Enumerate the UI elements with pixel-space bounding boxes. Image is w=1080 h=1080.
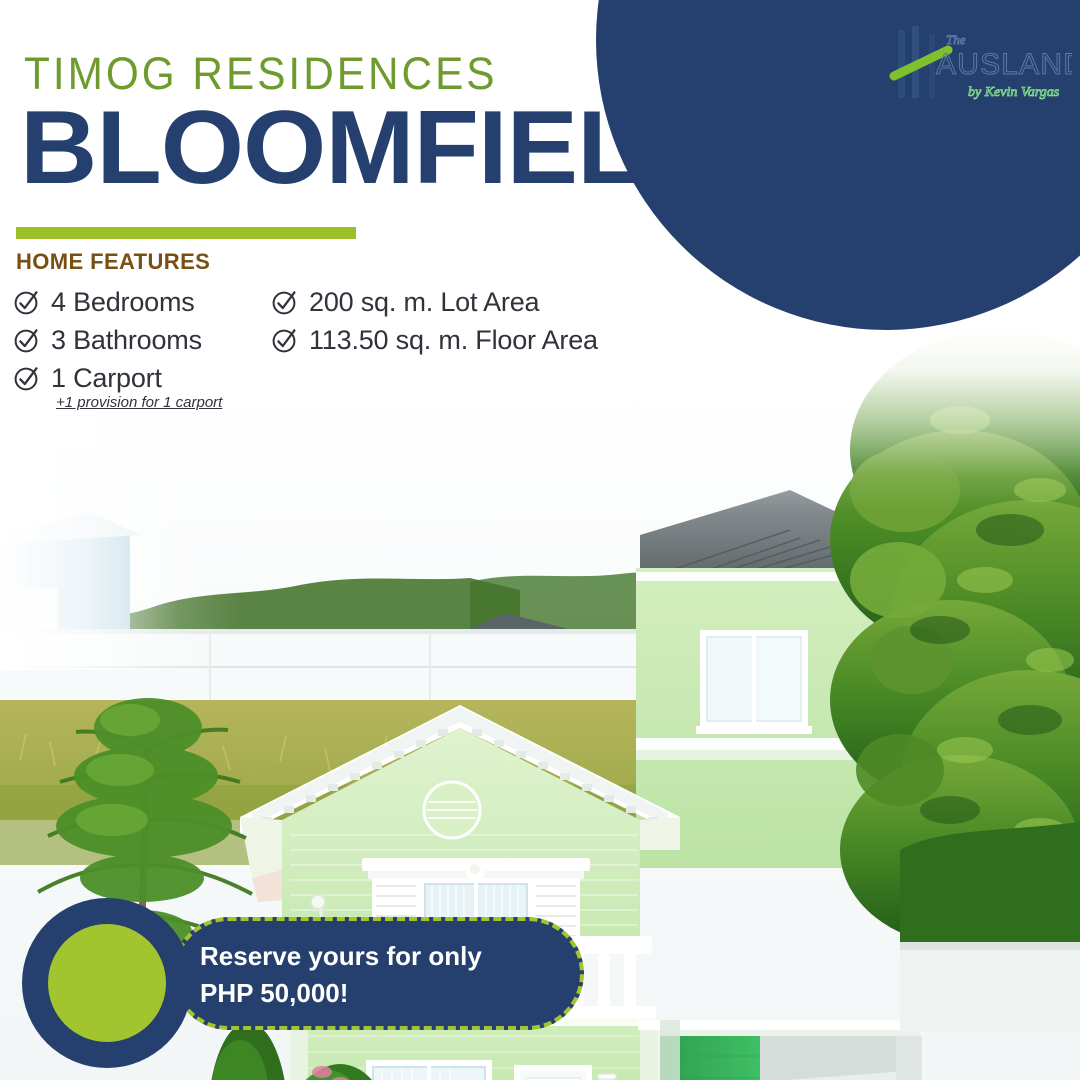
feature-item: 4 Bedrooms — [14, 283, 222, 321]
feature-label: 3 Bathrooms — [51, 325, 202, 356]
feature-item: 200 sq. m. Lot Area — [272, 283, 598, 321]
page-title: BLOOMFIELD — [20, 96, 718, 200]
logo-name-text: AUSLANDS — [936, 48, 1072, 81]
feature-label: 200 sq. m. Lot Area — [309, 287, 539, 318]
check-circle-icon — [14, 327, 40, 353]
hauslands-logo: The AUSLANDS by Kevin Vargas — [888, 24, 1072, 106]
reservation-cta[interactable]: Reserve yours for only PHP 50,000! — [22, 898, 582, 1068]
cta-line-2: PHP 50,000! — [200, 975, 570, 1012]
cta-text-block: Reserve yours for only PHP 50,000! — [200, 938, 570, 1012]
cta-circle-inner — [48, 924, 166, 1042]
feature-label: 1 Carport — [51, 363, 162, 394]
feature-item: 1 Carport — [14, 359, 222, 397]
feature-item: 113.50 sq. m. Floor Area — [272, 321, 598, 359]
check-circle-icon — [14, 289, 40, 315]
feature-label: 113.50 sq. m. Floor Area — [309, 325, 598, 356]
poster-canvas: The AUSLANDS by Kevin Vargas TIMOG RESID… — [0, 0, 1080, 1080]
features-left-column: 4 Bedrooms 3 Bathrooms 1 Carport +1 prov… — [14, 283, 222, 411]
feature-label: 4 Bedrooms — [51, 287, 195, 318]
check-circle-icon — [272, 289, 298, 315]
accent-divider — [16, 227, 356, 239]
features-right-column: 200 sq. m. Lot Area 113.50 sq. m. Floor … — [272, 283, 598, 359]
logo-the-text: The — [946, 32, 966, 47]
home-features-label: HOME FEATURES — [16, 249, 210, 275]
feature-item: 3 Bathrooms — [14, 321, 222, 359]
cta-line-1: Reserve yours for only — [200, 938, 570, 975]
check-circle-icon — [272, 327, 298, 353]
check-circle-icon — [14, 365, 40, 391]
logo-byline-text: by Kevin Vargas — [968, 85, 1060, 100]
carport-provision-note: +1 provision for 1 carport — [56, 394, 222, 411]
